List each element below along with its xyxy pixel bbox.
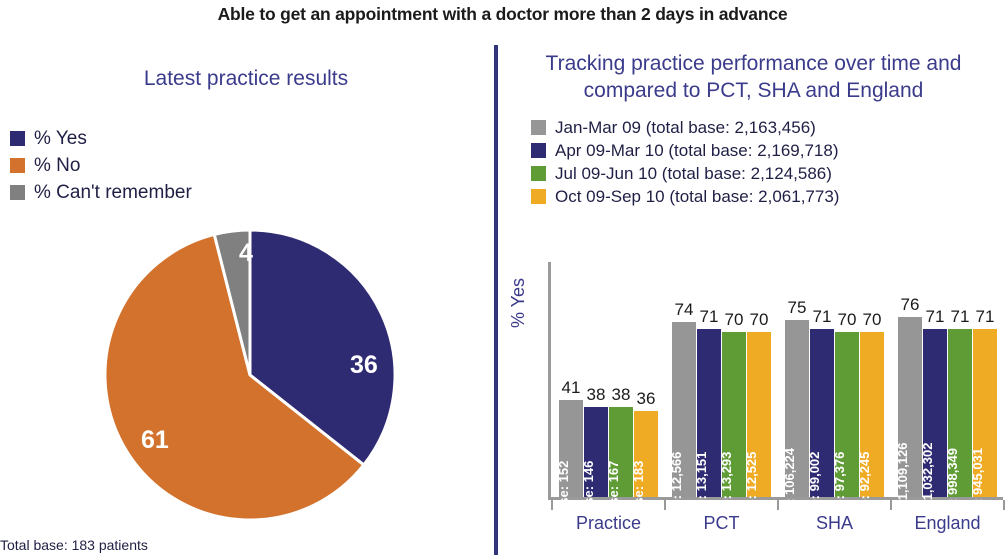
bar: 74Base: 12,566 [672, 322, 696, 497]
page-title: Able to get an appointment with a doctor… [0, 4, 1005, 25]
bar: 41Base: 152 [559, 400, 583, 497]
bar-value-label: 71 [926, 307, 945, 327]
bar: 70Base: 92,245 [860, 332, 884, 498]
x-axis-tick [551, 500, 553, 510]
series-swatch-apr-09-mar-10 [531, 143, 546, 158]
right-panel: Tracking practice performance over time … [498, 45, 1005, 555]
series-label-jan-mar-09: Jan-Mar 09 (total base: 2,163,456) [555, 119, 816, 136]
series-legend-item-1: Apr 09-Mar 10 (total base: 2,169,718) [531, 142, 839, 159]
bar-value-label: 38 [587, 385, 606, 405]
bar: 38Base: 167 [609, 407, 633, 497]
legend-label-cant-remember: % Can't remember [34, 183, 192, 202]
total-base-note: Total base: 183 patients [0, 537, 148, 553]
bar: 75Base: 106,224 [785, 320, 809, 497]
series-label-apr-09-mar-10: Apr 09-Mar 10 (total base: 2,169,718) [555, 142, 839, 159]
x-axis-tick [890, 500, 892, 510]
legend-item-yes: % Yes [10, 129, 192, 148]
pie-chart: 36 61 4 [105, 227, 395, 523]
bar-value-label: 70 [725, 310, 744, 330]
left-panel-title: Latest practice results [0, 67, 492, 91]
legend-item-no: % No [10, 156, 192, 175]
legend-label-no: % No [34, 156, 80, 175]
bar-value-label: 71 [976, 307, 995, 327]
x-axis-label-pct: PCT [662, 513, 781, 534]
series-label-jul-09-jun-10: Jul 09-Jun 10 (total base: 2,124,586) [555, 165, 832, 182]
bar: 71Base: 13,151 [697, 329, 721, 497]
y-axis-label: % Yes [508, 278, 529, 328]
bar-group: 75Base: 106,22471Base: 99,00270Base: 97,… [785, 262, 884, 497]
chart-page: Able to get an appointment with a doctor… [0, 0, 1005, 555]
bar: 76Base: 1,109,126 [898, 317, 922, 497]
legend-swatch-no [10, 158, 25, 173]
x-axis-tick [777, 500, 779, 510]
bar-group: 74Base: 12,56671Base: 13,15170Base: 13,2… [672, 262, 771, 497]
series-legend: Jan-Mar 09 (total base: 2,163,456) Apr 0… [531, 119, 839, 211]
bar-value-label: 70 [838, 310, 857, 330]
series-legend-item-3: Oct 09-Sep 10 (total base: 2,061,773) [531, 188, 839, 205]
bar-value-label: 70 [750, 310, 769, 330]
bar: 71Base: 945,031 [973, 329, 997, 497]
bar-group: 41Base: 15238Base: 14638Base: 16736Base:… [559, 262, 658, 497]
bar-value-label: 76 [901, 295, 920, 315]
bar: 38Base: 146 [584, 407, 608, 497]
bar-group: 76Base: 1,109,12671Base: 1,032,30271Base… [898, 262, 997, 497]
legend-swatch-cant-remember [10, 185, 25, 200]
bar: 71Base: 1,032,302 [923, 329, 947, 497]
legend-swatch-yes [10, 131, 25, 146]
left-panel: Latest practice results % Yes % No % Can… [0, 45, 492, 555]
pie-value-cant-remember: 4 [239, 239, 253, 268]
bar-value-label: 71 [700, 307, 719, 327]
x-axis-label-sha: SHA [775, 513, 894, 534]
bar-value-label: 36 [637, 389, 656, 409]
bar: 71Base: 998,349 [948, 329, 972, 497]
bar-value-label: 71 [951, 307, 970, 327]
series-swatch-jan-mar-09 [531, 120, 546, 135]
x-axis-label-england: England [888, 513, 1005, 534]
bar: 70Base: 12,525 [747, 332, 771, 498]
pie-legend: % Yes % No % Can't remember [10, 129, 192, 210]
bar: 71Base: 99,002 [810, 329, 834, 497]
bar: 70Base: 97,376 [835, 332, 859, 498]
bar-value-label: 74 [675, 300, 694, 320]
series-label-oct-09-sep-10: Oct 09-Sep 10 (total base: 2,061,773) [555, 188, 839, 205]
bar-value-label: 38 [612, 385, 631, 405]
bar-chart: % Yes 41Base: 15238Base: 14638Base: 1673… [506, 250, 1005, 555]
series-swatch-jul-09-jun-10 [531, 166, 546, 181]
bar-value-label: 75 [788, 298, 807, 318]
x-axis-tick [664, 500, 666, 510]
legend-item-cant-remember: % Can't remember [10, 183, 192, 202]
series-swatch-oct-09-sep-10 [531, 189, 546, 204]
bar: 36Base: 183 [634, 411, 658, 497]
series-legend-item-2: Jul 09-Jun 10 (total base: 2,124,586) [531, 165, 839, 182]
legend-label-yes: % Yes [34, 129, 87, 148]
pie-value-yes: 36 [350, 351, 378, 380]
right-panel-title: Tracking practice performance over time … [506, 51, 1001, 105]
x-axis-label-practice: Practice [549, 513, 668, 534]
plot-area: 41Base: 15238Base: 14638Base: 16736Base:… [551, 262, 1003, 497]
bar: 70Base: 13,293 [722, 332, 746, 498]
bar-value-label: 71 [813, 307, 832, 327]
bar-value-label: 70 [863, 310, 882, 330]
bar-value-label: 41 [562, 378, 581, 398]
series-legend-item-0: Jan-Mar 09 (total base: 2,163,456) [531, 119, 839, 136]
pie-value-no: 61 [141, 426, 169, 455]
